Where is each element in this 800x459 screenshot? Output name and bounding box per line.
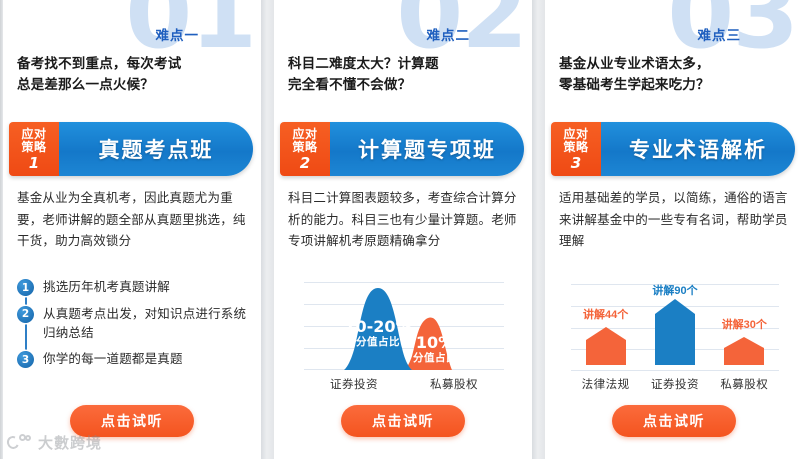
card-2-question-line-1: 科目二难度太大？计算题	[288, 56, 439, 71]
card-gap-1	[261, 0, 274, 459]
difficulty-card-2: 02 难点二 科目二难度太大？计算题 完全看不懂不会做？ 应对 策略 2 计算题…	[274, 0, 532, 459]
list-number-badge: 2	[17, 306, 34, 323]
card-1-numbered-list: 1 挑选历年机考真题讲解 2 从真题考点出发，对知识点进行系统归纳总结 3 你学…	[17, 278, 251, 377]
card-1-difficulty-label: 难点一	[156, 24, 200, 44]
score-share-chart: 10-20% 分值占比 10% 分值占比 证券投资 私募股权	[304, 280, 504, 392]
card-3-badge-line-2: 策略	[563, 141, 588, 154]
card-1-cta-button[interactable]: 点击试听	[70, 405, 194, 437]
card-3-strategy-bar[interactable]: 应对 策略 3 专业术语解析	[551, 122, 795, 176]
list-item: 2 从真题考点出发，对知识点进行系统归纳总结	[17, 305, 251, 343]
card-1-question-line-1: 备考找不到重点，每次考试	[17, 56, 181, 71]
card-2-header: 02 难点二 科目二难度太大？计算题 完全看不懂不会做？	[274, 0, 532, 118]
card-3-question: 基金从业专业术语太多， 零基础考生学起来吃力？	[559, 54, 793, 96]
curve-value-private-equity: 10%	[404, 334, 466, 352]
bar-group-securities: 讲解90个	[640, 282, 709, 370]
chart-curves: 10-20% 分值占比 10% 分值占比	[304, 280, 504, 370]
card-2-badge-number: 2	[300, 155, 310, 172]
bar-private-equity	[724, 337, 764, 370]
card-1-question-line-2: 总是差那么一点火候？	[17, 75, 251, 96]
chart-bars: 讲解44个 讲解90个 讲解30个	[571, 282, 779, 370]
chart-x-label: 私募股权	[710, 376, 779, 392]
curve-label-private-equity: 10% 分值占比	[404, 334, 466, 364]
list-item: 1 挑选历年机考真题讲解	[17, 278, 251, 297]
card-1-description: 基金从业为全真机考，因此真题尤为重要，老师讲解的题全部从真题里挑选，纯干货，助力…	[17, 188, 249, 253]
card-3-strategy-title: 专业术语解析	[601, 122, 795, 176]
list-item-text: 挑选历年机考真题讲解	[43, 278, 170, 297]
card-2-strategy-bar[interactable]: 应对 策略 2 计算题专项班	[280, 122, 524, 176]
explained-count-chart: 讲解44个 讲解90个 讲解30个	[571, 282, 779, 392]
card-1-badge-line-2: 策略	[21, 141, 46, 154]
list-number-badge: 1	[17, 279, 34, 296]
bar-law	[586, 327, 626, 370]
card-3-badge-number: 3	[571, 155, 581, 172]
bar-group-law: 讲解44个	[571, 282, 640, 370]
card-3-question-line-2: 零基础考生学起来吃力？	[559, 75, 793, 96]
bar-group-private-equity: 讲解30个	[710, 282, 779, 370]
aperture-logo-icon	[7, 434, 33, 451]
bar-value-label-private-equity: 讲解30个	[722, 316, 767, 332]
card-2-cta-button[interactable]: 点击试听	[341, 405, 465, 437]
list-number-badge: 3	[17, 351, 34, 368]
card-3-difficulty-label: 难点三	[698, 24, 742, 44]
card-2-difficulty-label: 难点二	[427, 24, 471, 44]
card-3-description: 适用基础差的学员，以简练，通俗的语言来讲解基金中的一些专有名词，帮助学员理解	[559, 188, 791, 253]
card-1-strategy-bar[interactable]: 应对 策略 1 真题考点班	[9, 122, 253, 176]
card-2-strategy-badge: 应对 策略 2	[280, 122, 330, 176]
curve-sublabel-private-equity: 分值占比	[404, 352, 466, 364]
card-gap-2	[532, 0, 545, 459]
list-item-text: 你学的每一道题都是真题	[43, 350, 183, 369]
chart-x-labels: 法律法规 证券投资 私募股权	[571, 376, 779, 392]
chart-x-label: 私募股权	[404, 376, 504, 392]
bar-value-label-law: 讲解44个	[583, 306, 628, 322]
chart-x-label: 证券投资	[304, 376, 404, 392]
list-item: 3 你学的每一道题都是真题	[17, 350, 251, 369]
card-2-question: 科目二难度太大？计算题 完全看不懂不会做？	[288, 54, 522, 96]
bar-securities	[655, 299, 695, 370]
list-item-text: 从真题考点出发，对知识点进行系统归纳总结	[43, 305, 251, 343]
chart-x-labels: 证券投资 私募股权	[304, 376, 504, 392]
promo-banner: 01 难点一 备考找不到重点，每次考试 总是差那么一点火候？ 应对 策略 1 真…	[0, 0, 800, 459]
card-1-strategy-title: 真题考点班	[59, 122, 253, 176]
card-3-cta-button[interactable]: 点击试听	[612, 405, 736, 437]
card-2-description: 科目二计算图表题较多，考查综合计算分析的能力。科目三也有少量计算题。老师专项讲解…	[288, 188, 520, 253]
chart-x-label: 法律法规	[571, 376, 640, 392]
chart-x-label: 证券投资	[640, 376, 709, 392]
card-1-header: 01 难点一 备考找不到重点，每次考试 总是差那么一点火候？	[3, 0, 261, 118]
card-3-strategy-badge: 应对 策略 3	[551, 122, 601, 176]
card-2-question-line-2: 完全看不懂不会做？	[288, 75, 522, 96]
card-2-strategy-title: 计算题专项班	[330, 122, 524, 176]
card-3-question-line-1: 基金从业专业术语太多，	[559, 56, 710, 71]
difficulty-card-1: 01 难点一 备考找不到重点，每次考试 总是差那么一点火候？ 应对 策略 1 真…	[3, 0, 261, 459]
card-2-badge-line-2: 策略	[292, 141, 317, 154]
card-1-strategy-badge: 应对 策略 1	[9, 122, 59, 176]
card-3-header: 03 难点三 基金从业专业术语太多， 零基础考生学起来吃力？	[545, 0, 800, 118]
card-1-badge-number: 1	[29, 155, 39, 172]
card-1-question: 备考找不到重点，每次考试 总是差那么一点火候？	[17, 54, 251, 96]
difficulty-card-3: 03 难点三 基金从业专业术语太多， 零基础考生学起来吃力？ 应对 策略 3 专…	[545, 0, 800, 459]
bar-value-label-securities: 讲解90个	[652, 282, 697, 298]
